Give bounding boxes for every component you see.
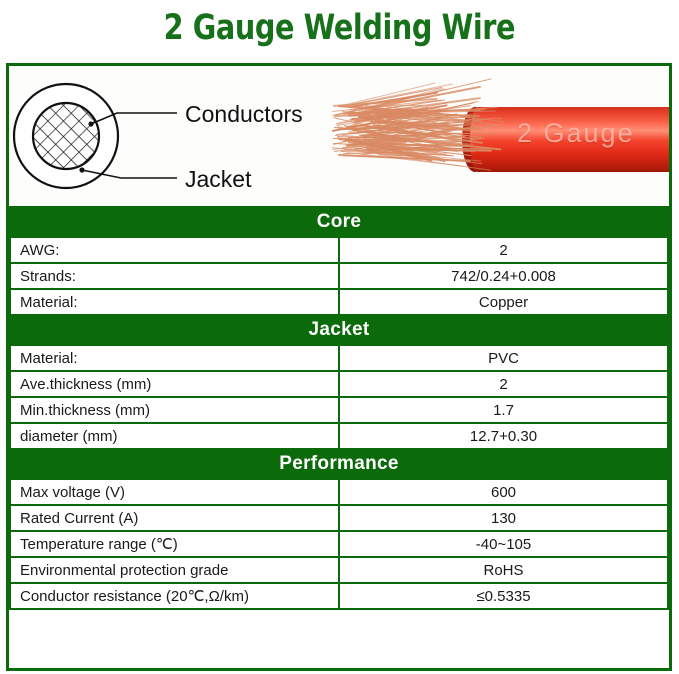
specification-table: CoreAWG:2Strands:742/0.24+0.008Material:… <box>9 206 669 610</box>
wire-printed-text: 2 Gauge <box>517 118 635 149</box>
spec-value: 1.7 <box>339 397 668 423</box>
section-header-row: Performance <box>10 449 668 479</box>
table-row: Rated Current (A)130 <box>10 505 668 531</box>
page-title: 2 Gauge Welding Wire <box>164 11 516 46</box>
spec-value: ≤0.5335 <box>339 583 668 609</box>
spec-table-body: CoreAWG:2Strands:742/0.24+0.008Material:… <box>10 207 668 609</box>
spec-label: Material: <box>10 345 339 371</box>
spec-label: diameter (mm) <box>10 423 339 449</box>
spec-label: Max voltage (V) <box>10 479 339 505</box>
table-row: Conductor resistance (20℃,Ω/km)≤0.5335 <box>10 583 668 609</box>
spec-label: Material: <box>10 289 339 315</box>
welding-wire-photo: 2 Gauge <box>320 66 669 206</box>
spec-sheet-frame: Conductors Jacket 2 Gauge CoreAWG:2Stran… <box>6 63 672 671</box>
illustration-band: Conductors Jacket 2 Gauge <box>9 66 669 206</box>
table-row: Strands:742/0.24+0.008 <box>10 263 668 289</box>
table-row: Ave.thickness (mm)2 <box>10 371 668 397</box>
page-title-bar: 2 Gauge Welding Wire <box>0 0 679 56</box>
section-heading: Jacket <box>10 315 668 345</box>
table-row: Material:Copper <box>10 289 668 315</box>
table-row: diameter (mm)12.7+0.30 <box>10 423 668 449</box>
table-row: Min.thickness (mm)1.7 <box>10 397 668 423</box>
section-header-row: Jacket <box>10 315 668 345</box>
spec-label: Ave.thickness (mm) <box>10 371 339 397</box>
section-heading: Performance <box>10 449 668 479</box>
wire-cross-section-diagram: Conductors Jacket <box>9 66 320 206</box>
table-row: Environmental protection gradeRoHS <box>10 557 668 583</box>
section-header-row: Core <box>10 207 668 237</box>
spec-value: PVC <box>339 345 668 371</box>
table-row: Temperature range (℃)-40~105 <box>10 531 668 557</box>
spec-label: Temperature range (℃) <box>10 531 339 557</box>
copper-strand-bundle <box>332 90 484 186</box>
spec-value: RoHS <box>339 557 668 583</box>
table-row: AWG:2 <box>10 237 668 263</box>
spec-label: AWG: <box>10 237 339 263</box>
section-heading: Core <box>10 207 668 237</box>
spec-value: Copper <box>339 289 668 315</box>
jacket-label: Jacket <box>185 166 252 192</box>
table-row: Max voltage (V)600 <box>10 479 668 505</box>
spec-value: 2 <box>339 237 668 263</box>
spec-label: Environmental protection grade <box>10 557 339 583</box>
table-row: Material:PVC <box>10 345 668 371</box>
spec-value: 12.7+0.30 <box>339 423 668 449</box>
conductors-label: Conductors <box>185 101 303 127</box>
spec-value: 2 <box>339 371 668 397</box>
spec-label: Conductor resistance (20℃,Ω/km) <box>10 583 339 609</box>
spec-value: 130 <box>339 505 668 531</box>
spec-value: 600 <box>339 479 668 505</box>
spec-value: -40~105 <box>339 531 668 557</box>
spec-label: Rated Current (A) <box>10 505 339 531</box>
spec-value: 742/0.24+0.008 <box>339 263 668 289</box>
spec-label: Strands: <box>10 263 339 289</box>
spec-label: Min.thickness (mm) <box>10 397 339 423</box>
